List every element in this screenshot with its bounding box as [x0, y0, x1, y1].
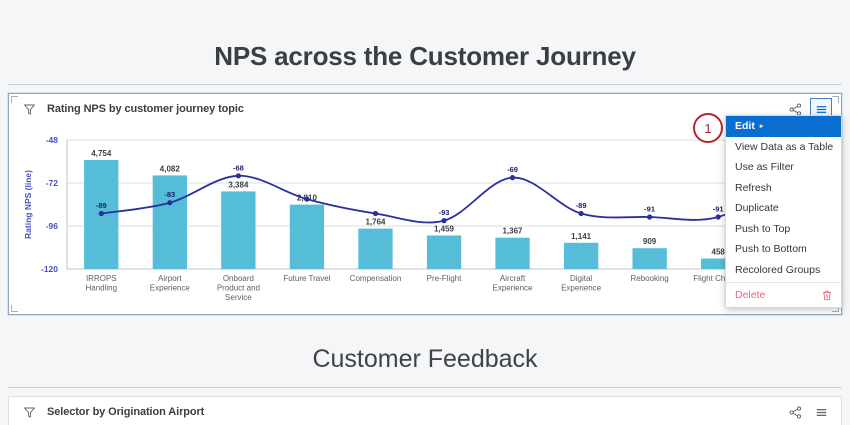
x-category-label: Onboard: [223, 274, 254, 283]
hamburger-menu-icon[interactable]: [810, 401, 832, 423]
x-category-label: IRROPS: [86, 274, 117, 283]
x-category-label: Experience: [492, 284, 533, 293]
card-context-menu[interactable]: Edit ▸ View Data as a Table Use as Filte…: [725, 115, 842, 308]
chevron-right-icon: ▸: [760, 122, 764, 130]
trash-icon: [822, 290, 832, 301]
menu-item-delete-label: Delete: [735, 289, 765, 301]
x-category-label: Rebooking: [630, 274, 668, 283]
menu-item-use-as-filter[interactable]: Use as Filter: [726, 157, 841, 178]
x-category-label: Product and: [217, 284, 260, 293]
menu-item-edit-label: Edit: [735, 120, 755, 132]
filter-icon[interactable]: [23, 103, 36, 116]
y-tick-label: -72: [46, 178, 59, 188]
x-category-label: Digital: [570, 274, 592, 283]
selector-card[interactable]: Selector by Origination Airport: [8, 396, 842, 425]
bar-value-label: 4,754: [91, 149, 112, 158]
bar-value-label: 3,384: [228, 180, 249, 189]
bar: [358, 229, 392, 269]
line-point: [304, 197, 309, 202]
line-value-label: -89: [96, 201, 107, 210]
x-category-label: Compensation: [350, 274, 402, 283]
bar-value-label: 4,082: [160, 164, 181, 173]
menu-item-view-data-as-a-table[interactable]: View Data as a Table: [726, 137, 841, 158]
menu-item-duplicate[interactable]: Duplicate: [726, 198, 841, 219]
line-value-label: -91: [644, 205, 655, 214]
line-point: [236, 173, 241, 178]
line-point: [716, 214, 721, 219]
menu-item-recolored-groups[interactable]: Recolored Groups: [726, 260, 841, 281]
selector-card-header: Selector by Origination Airport: [9, 397, 841, 425]
line-point: [373, 211, 378, 216]
bar: [633, 248, 667, 269]
bar-value-label: 909: [643, 237, 657, 246]
nps-chart[interactable]: -48-72-96-120Rating NPS (line)4,7544,082…: [9, 124, 841, 314]
bar: [564, 243, 598, 269]
line-value-label: -89: [576, 201, 587, 210]
x-category-label: Experience: [561, 284, 602, 293]
menu-item-label: Duplicate: [735, 202, 779, 214]
x-category-label: Service: [225, 293, 252, 302]
bar-value-label: 1,367: [502, 227, 523, 236]
bar-value-label: 1,459: [434, 225, 455, 234]
line-point: [510, 175, 515, 180]
line-point: [441, 218, 446, 223]
chart-card-title: Rating NPS by customer journey topic: [47, 103, 244, 115]
x-category-label: Experience: [150, 284, 191, 293]
menu-divider: [726, 282, 841, 283]
menu-item-label: Push to Bottom: [735, 243, 807, 255]
menu-item-label: Use as Filter: [735, 161, 794, 173]
x-category-label: Pre-Flight: [427, 274, 462, 283]
menu-item-delete[interactable]: Delete: [726, 285, 841, 306]
line-point: [99, 211, 104, 216]
chart-svg: -48-72-96-120Rating NPS (line)4,7544,082…: [9, 124, 841, 314]
menu-item-refresh[interactable]: Refresh: [726, 178, 841, 199]
section-divider-bottom: [8, 387, 842, 388]
bar: [427, 236, 461, 270]
bar: [495, 238, 529, 269]
line-value-label: -91: [713, 205, 724, 214]
dashboard-page: NPS across the Customer Journey Rating N…: [0, 0, 850, 425]
menu-item-label: Refresh: [735, 182, 772, 194]
menu-item-label: View Data as a Table: [735, 141, 833, 153]
x-category-label: Future Travel: [283, 274, 330, 283]
line-value-label: -69: [507, 165, 518, 174]
y-tick-label: -96: [46, 221, 59, 231]
menu-item-label: Recolored Groups: [735, 264, 820, 276]
line-value-label: -83: [164, 190, 175, 199]
selector-card-actions: [784, 401, 841, 423]
page-title-customer-feedback: Customer Feedback: [0, 345, 850, 374]
x-category-label: Aircraft: [500, 274, 526, 283]
bar: [290, 205, 324, 269]
x-category-label: Handling: [86, 284, 118, 293]
bar-value-label: 1,141: [571, 232, 592, 241]
share-icon[interactable]: [784, 401, 806, 423]
annotation-step-number: 1: [704, 121, 711, 136]
y-tick-label: -120: [41, 264, 58, 274]
menu-item-label: Push to Top: [735, 223, 790, 235]
bar-value-label: 458: [712, 248, 726, 257]
y-axis-title: Rating NPS (line): [23, 170, 33, 239]
annotation-step-1: 1: [693, 113, 723, 143]
line-point: [579, 211, 584, 216]
menu-item-push-to-bottom[interactable]: Push to Bottom: [726, 239, 841, 260]
line-point: [167, 200, 172, 205]
section-divider-top: [8, 84, 842, 85]
menu-item-push-to-top[interactable]: Push to Top: [726, 219, 841, 240]
bar: [221, 191, 255, 269]
line-value-label: -93: [439, 208, 450, 217]
bar-value-label: 1,764: [365, 218, 386, 227]
selector-card-title: Selector by Origination Airport: [47, 406, 204, 418]
line-point: [647, 214, 652, 219]
line-value-label: -68: [233, 163, 244, 172]
menu-item-edit[interactable]: Edit ▸: [726, 116, 841, 137]
page-title-nps: NPS across the Customer Journey: [0, 41, 850, 72]
filter-icon[interactable]: [23, 406, 36, 419]
y-tick-label: -48: [46, 135, 59, 145]
x-category-label: Airport: [158, 274, 182, 283]
